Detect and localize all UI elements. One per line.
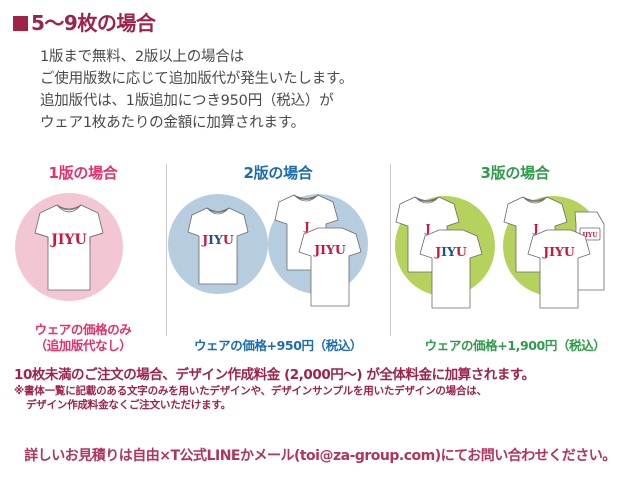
flyer-page: 5〜9枚の場合 1版まで無料、2版以上の場合は ご使用版数に応じて追加版代が発生… [0,0,640,479]
page-title: 5〜9枚の場合 [13,13,155,33]
intro-line-3: 追加版代は、1版追加につき950円（税込）が [40,90,353,112]
intro-line-2: ご使用版数に応じて追加版代が発生いたします。 [40,68,353,90]
page-title-text: 5〜9枚の場合 [31,13,155,33]
column-2-version: 2版の場合 JIYU [166,160,390,356]
column-3-version: 3版の場合 J JIYU [390,160,640,356]
note-sub-text-1: ※書体一覧に記載のある文字のみを用いたデザインや、デザインサンプルを用いたデザイ… [14,384,634,398]
square-bullet-icon [13,16,28,31]
column-1-caption-line-1: ウェアの価格のみ [0,322,166,338]
column-2-illustration: JIYU J JIYU [166,182,390,312]
shirt-print-text: J [532,222,538,235]
shirt-print-text: JIYU [313,242,346,257]
shirt-print-text: JIYU [201,232,234,247]
note-main-text: 10枚未満のご注文の場合、デザイン作成料金 (2,000円〜) が全体料金に加算… [14,366,634,384]
shirt-print-text: JIYU [542,244,575,259]
column-3-illustration: J JIYU J [390,182,640,312]
column-1-caption: ウェアの価格のみ （追加版代なし） [0,322,166,354]
column-1-version: 1版の場合 JIYU ウェアの価格のみ （追加版代なし） [0,160,166,356]
column-3-heading: 3版の場合 [390,162,640,183]
note-sub-text-2: デザイン作成料金なくご注文いただけます。 [14,398,634,412]
shirt-print-text: J [424,222,430,235]
intro-line-4: ウェア1枚あたりの金額に加算されます。 [40,112,353,134]
intro-paragraph: 1版まで無料、2版以上の場合は ご使用版数に応じて追加版代が発生いたします。 追… [40,46,353,134]
column-2-caption-line-1: ウェアの価格+950円（税込） [166,338,390,354]
shirt-print-text: J [303,220,309,233]
shirt-print-text: JIYU [49,232,86,248]
footer-contact-text: 詳しいお見積りは自由×T公式LINEかメール(toi@za-group.com)… [0,445,640,465]
shirt-print-text: JIYU [434,244,467,259]
column-1-illustration: JIYU [0,182,166,312]
column-2-caption: ウェアの価格+950円（税込） [166,338,390,354]
column-2-heading: 2版の場合 [166,162,390,183]
column-3-caption-line-1: ウェアの価格+1,900円（税込） [390,338,640,354]
pricing-columns: 1版の場合 JIYU ウェアの価格のみ （追加版代なし） [0,160,640,356]
column-3-caption: ウェアの価格+1,900円（税込） [390,338,640,354]
column-1-caption-line-2: （追加版代なし） [0,338,166,354]
column-1-heading: 1版の場合 [0,162,166,183]
intro-line-1: 1版まで無料、2版以上の場合は [40,46,353,68]
notes-block: 10枚未満のご注文の場合、デザイン作成料金 (2,000円〜) が全体料金に加算… [14,366,634,412]
